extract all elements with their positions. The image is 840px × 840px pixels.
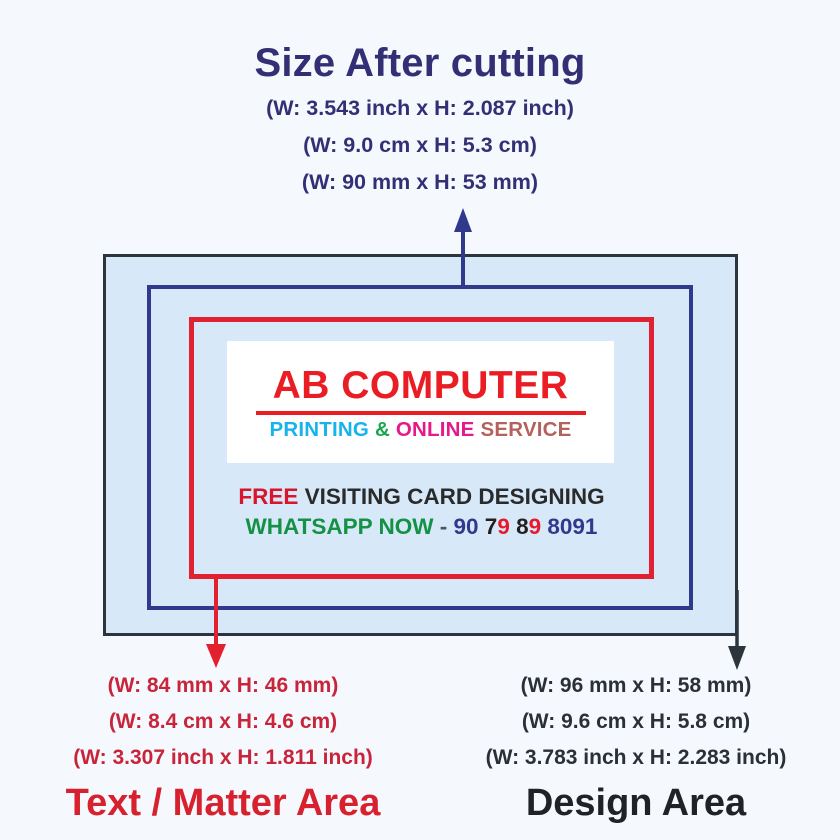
promo-offer-line: FREE VISITING CARD DESIGNING [189, 483, 654, 512]
promo-phone-part-5: 9 [529, 514, 542, 539]
logo-box: AB COMPUTER PRINTING & ONLINE SERVICE [227, 341, 614, 463]
diagram-canvas: Size After cutting (W: 3.543 inch x H: 2… [0, 0, 840, 840]
size-after-cutting-block: Size After cutting (W: 3.543 inch x H: 2… [0, 42, 840, 201]
design-area-title: Design Area [432, 784, 840, 824]
size-after-cutting-title: Size After cutting [0, 42, 840, 84]
text-matter-area-title: Text / Matter Area [8, 784, 438, 824]
promo-free-word: FREE [238, 484, 298, 509]
promo-block: FREE VISITING CARD DESIGNING WHATSAPP NO… [189, 483, 654, 542]
promo-phone-part-4: 8 [516, 514, 529, 539]
promo-offer-rest: VISITING CARD DESIGNING [305, 484, 605, 509]
promo-whatsapp-label: WHATSAPP NOW [246, 514, 434, 539]
text-matter-area-block: (W: 84 mm x H: 46 mm) (W: 8.4 cm x H: 4.… [8, 668, 438, 824]
text-matter-cm: (W: 8.4 cm x H: 4.6 cm) [8, 704, 438, 740]
design-area-inch: (W: 3.783 inch x H: 2.283 inch) [432, 740, 840, 776]
logo-tagline-online: ONLINE [396, 418, 475, 441]
text-matter-mm: (W: 84 mm x H: 46 mm) [8, 668, 438, 704]
logo-divider [256, 411, 586, 415]
logo-tagline-printing: PRINTING [270, 418, 370, 441]
promo-phone-part-2: 7 [485, 514, 498, 539]
promo-phone-part-3: 9 [497, 514, 510, 539]
promo-whatsapp-line: WHATSAPP NOW - 90 79 89 8091 [189, 513, 654, 542]
logo-company-name: AB COMPUTER [273, 366, 569, 405]
promo-phone-part-6: 8091 [547, 514, 597, 539]
logo-tagline-service: SERVICE [480, 418, 571, 441]
design-area-block: (W: 96 mm x H: 58 mm) (W: 9.6 cm x H: 5.… [432, 668, 840, 824]
logo-tagline-ampersand: & [375, 418, 390, 441]
logo-tagline: PRINTING & ONLINE SERVICE [270, 420, 572, 441]
design-area-cm: (W: 9.6 cm x H: 5.8 cm) [432, 704, 840, 740]
size-after-cutting-dimensions: (W: 3.543 inch x H: 2.087 inch) (W: 9.0 … [0, 90, 840, 201]
text-matter-inch: (W: 3.307 inch x H: 1.811 inch) [8, 740, 438, 776]
promo-phone-part-1: 90 [454, 514, 479, 539]
cut-size-cm: (W: 9.0 cm x H: 5.3 cm) [0, 127, 840, 164]
cut-size-inch: (W: 3.543 inch x H: 2.087 inch) [0, 90, 840, 127]
design-area-mm: (W: 96 mm x H: 58 mm) [432, 668, 840, 704]
cut-size-mm: (W: 90 mm x H: 53 mm) [0, 164, 840, 201]
